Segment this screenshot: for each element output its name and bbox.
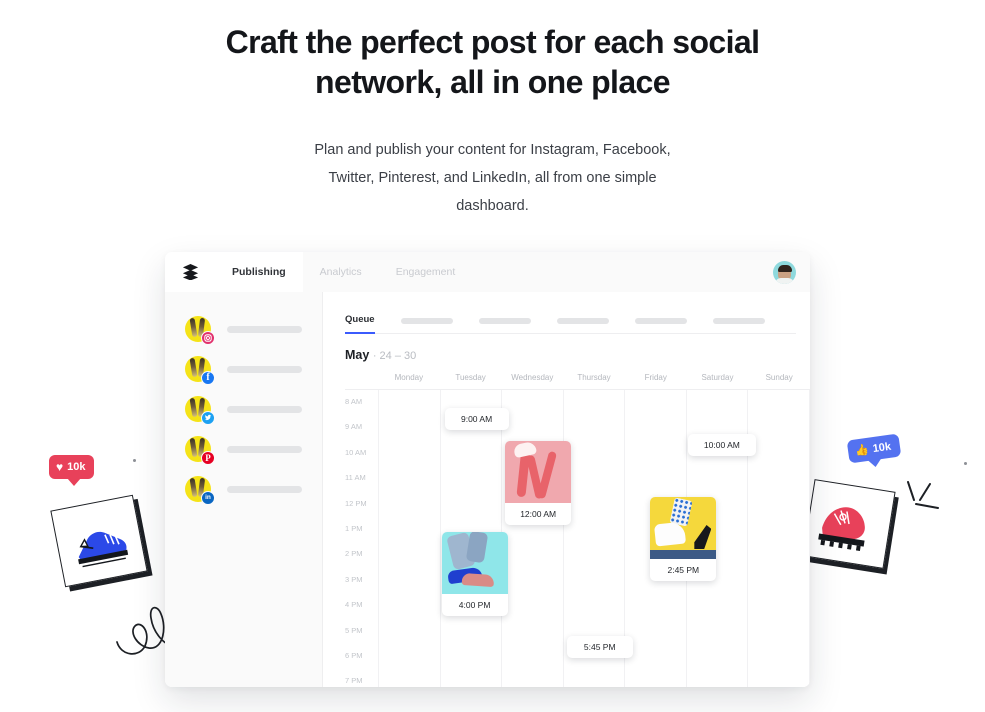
tab-engagement-label: Engagement xyxy=(396,266,456,278)
right-like-badge: 👍 10k xyxy=(847,433,902,463)
tab-publishing[interactable]: Publishing xyxy=(215,252,303,292)
account-name-placeholder xyxy=(227,326,302,333)
sparkle-lines-doodle xyxy=(900,480,946,520)
account-avatar: P xyxy=(185,436,211,462)
account-name-placeholder xyxy=(227,486,302,493)
post-card[interactable]: 9:00 AM xyxy=(445,408,509,430)
time-label: 4 PM xyxy=(345,593,378,618)
post-time: 5:45 PM xyxy=(567,636,633,658)
day-column-wednesday[interactable]: 12:00 AM xyxy=(501,390,563,687)
right-like-count: 10k xyxy=(872,440,892,454)
tab-placeholder-3[interactable] xyxy=(557,318,609,324)
day-header-sunday: Sunday xyxy=(748,370,810,389)
sidebar-item-pinterest[interactable]: P xyxy=(165,429,322,469)
account-avatar: in xyxy=(185,476,211,502)
time-label: 5 PM xyxy=(345,619,378,644)
account-name-placeholder xyxy=(227,366,302,373)
publishing-panel: Queue May · 24 – 30 Monday Tuesday Wedne… xyxy=(323,292,810,687)
tab-analytics[interactable]: Analytics xyxy=(303,252,379,292)
sidebar-item-twitter[interactable] xyxy=(165,389,322,429)
time-label: 6 PM xyxy=(345,644,378,669)
time-axis: 8 AM 9 AM 10 AM 11 AM 12 PM 1 PM 2 PM 3 … xyxy=(345,390,378,687)
post-card[interactable]: 5:45 PM xyxy=(567,636,633,658)
day-column-friday[interactable]: 2:45 PM xyxy=(624,390,686,687)
post-time: 12:00 AM xyxy=(505,503,571,525)
month-label: May xyxy=(345,348,369,362)
app-logo[interactable] xyxy=(165,252,215,292)
right-illustration-card xyxy=(802,479,895,569)
linkedin-icon: in xyxy=(201,491,215,505)
time-label: 8 AM xyxy=(345,390,378,415)
left-like-badge: ♥ 10k xyxy=(49,455,94,479)
decor-dot-3 xyxy=(964,462,967,465)
account-name-placeholder xyxy=(227,406,302,413)
time-header-spacer xyxy=(345,370,378,389)
date-range-label: · 24 – 30 xyxy=(373,350,416,362)
calendar-day-headers: Monday Tuesday Wednesday Thursday Friday… xyxy=(345,370,810,390)
tab-placeholder-2[interactable] xyxy=(479,318,531,324)
post-time: 2:45 PM xyxy=(650,559,716,581)
post-card[interactable]: 2:45 PM xyxy=(650,497,716,581)
hero-section: Craft the perfect post for each social n… xyxy=(0,0,985,220)
tab-queue[interactable]: Queue xyxy=(345,314,375,334)
day-column-monday[interactable] xyxy=(378,390,440,687)
time-label: 10 AM xyxy=(345,441,378,466)
tab-placeholder-1[interactable] xyxy=(401,318,453,324)
tab-placeholder-5[interactable] xyxy=(713,318,765,324)
day-column-tuesday[interactable]: 9:00 AM 4:00 PM xyxy=(440,390,502,687)
post-card[interactable]: 10:00 AM xyxy=(688,434,756,456)
accounts-sidebar: f P xyxy=(165,292,323,687)
time-label: 9 AM xyxy=(345,415,378,440)
date-range-header: May · 24 – 30 xyxy=(323,334,810,372)
tab-placeholder-4[interactable] xyxy=(635,318,687,324)
post-time: 9:00 AM xyxy=(445,408,509,430)
time-label: 11 AM xyxy=(345,466,378,491)
time-label: 12 PM xyxy=(345,492,378,517)
tab-queue-label: Queue xyxy=(345,314,375,325)
page-title: Craft the perfect post for each social n… xyxy=(183,22,803,102)
post-card[interactable]: 12:00 AM xyxy=(505,441,571,525)
post-thumbnail xyxy=(505,441,571,503)
day-header-tuesday: Tuesday xyxy=(440,370,502,389)
tab-engagement[interactable]: Engagement xyxy=(379,252,473,292)
heart-icon: ♥ xyxy=(56,460,63,474)
red-cleat-illustration xyxy=(803,480,896,570)
time-label: 3 PM xyxy=(345,568,378,593)
avatar-hair xyxy=(778,265,792,272)
twitter-icon xyxy=(201,411,215,425)
account-name-placeholder xyxy=(227,446,302,453)
time-label: 1 PM xyxy=(345,517,378,542)
pinterest-icon: P xyxy=(201,451,215,465)
account-avatar: f xyxy=(185,356,211,382)
day-header-friday: Friday xyxy=(625,370,687,389)
tab-analytics-label: Analytics xyxy=(320,266,362,278)
day-column-thursday[interactable]: 5:45 PM xyxy=(563,390,625,687)
sidebar-item-instagram[interactable] xyxy=(165,309,322,349)
day-header-wednesday: Wednesday xyxy=(501,370,563,389)
post-time: 10:00 AM xyxy=(688,434,756,456)
sidebar-item-linkedin[interactable]: in xyxy=(165,469,322,509)
post-time: 4:00 PM xyxy=(442,594,508,616)
day-header-saturday: Saturday xyxy=(687,370,749,389)
account-avatar xyxy=(185,316,211,342)
day-header-monday: Monday xyxy=(378,370,440,389)
left-illustration-card xyxy=(50,495,147,588)
layer-stack-icon xyxy=(182,264,199,280)
account-avatar xyxy=(185,396,211,422)
sidebar-item-facebook[interactable]: f xyxy=(165,349,322,389)
avatar[interactable] xyxy=(773,261,796,284)
thumbs-up-icon: 👍 xyxy=(854,443,869,458)
avatar-shirt xyxy=(775,278,794,284)
post-card[interactable]: 4:00 PM xyxy=(442,532,508,616)
decor-dot-1 xyxy=(133,459,136,462)
calendar-grid: 8 AM 9 AM 10 AM 11 AM 12 PM 1 PM 2 PM 3 … xyxy=(345,390,810,687)
time-label: 2 PM xyxy=(345,542,378,567)
time-label: 7 PM xyxy=(345,669,378,687)
blue-sneaker-illustration xyxy=(52,495,149,588)
post-thumbnail xyxy=(442,532,508,594)
day-header-thursday: Thursday xyxy=(563,370,625,389)
tab-publishing-label: Publishing xyxy=(232,266,286,278)
dashboard-window: Publishing Analytics Engagement xyxy=(165,252,810,687)
post-thumbnail xyxy=(650,497,716,559)
page-subtitle: Plan and publish your content for Instag… xyxy=(293,136,693,220)
app-header: Publishing Analytics Engagement xyxy=(165,252,810,292)
content-tabs: Queue xyxy=(323,304,810,334)
day-column-sunday[interactable] xyxy=(747,390,810,687)
instagram-icon xyxy=(201,331,215,345)
left-like-count: 10k xyxy=(67,461,85,473)
calendar: Monday Tuesday Wednesday Thursday Friday… xyxy=(345,370,810,687)
facebook-icon: f xyxy=(201,371,215,385)
